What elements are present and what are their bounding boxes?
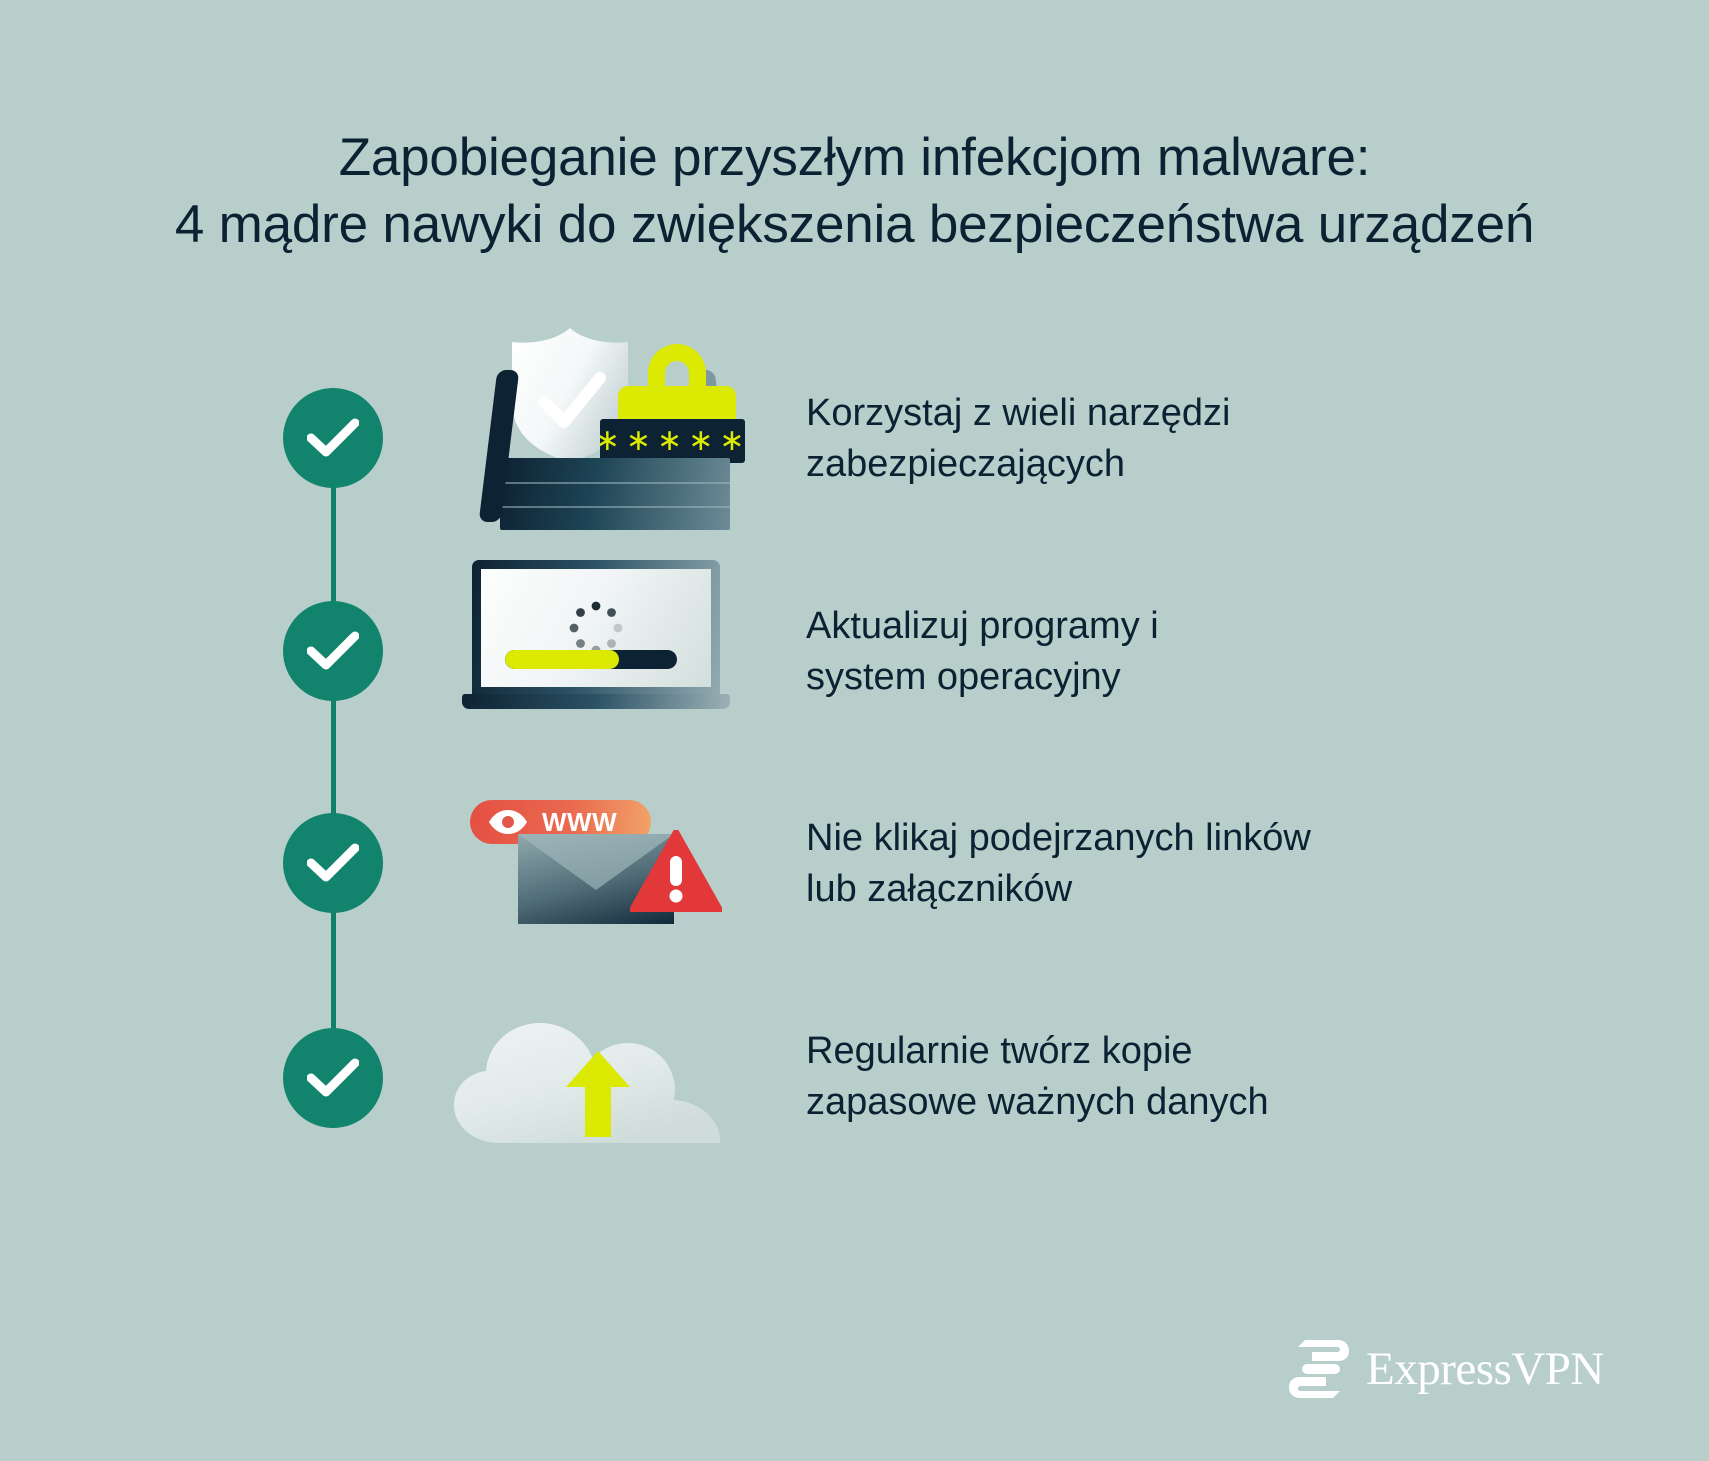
list-item-text-2: Aktualizuj programy i system operacyjny: [806, 601, 1506, 702]
email-suspicious-link-warning-icon: WWW: [470, 790, 738, 930]
item-4-line-2: zapasowe ważnych danych: [806, 1077, 1506, 1128]
list-item-text-1: Korzystaj z wieli narzędzi zabezpieczają…: [806, 388, 1506, 489]
update-progress-fill: [505, 650, 619, 669]
toolbox-body: [500, 458, 730, 530]
infographic-canvas: Zapobieganie przyszłym infekcjom malware…: [0, 0, 1709, 1461]
expressvpn-logo-mark-icon: [1288, 1338, 1350, 1400]
item-1-line-2: zabezpieczających: [806, 439, 1506, 490]
list-item-text-4: Regularnie twórz kopie zapasowe ważnych …: [806, 1026, 1506, 1127]
warning-triangle-icon: [630, 830, 722, 912]
url-label: WWW: [542, 809, 617, 835]
upload-arrow-icon: [566, 1051, 630, 1137]
eye-icon: [488, 809, 528, 835]
update-progress-bar: [505, 650, 677, 669]
checkmark-node-1: [283, 388, 383, 488]
laptop-update-progress-icon: [462, 560, 730, 728]
checkmark-node-4: [283, 1028, 383, 1128]
expressvpn-logo: ExpressVPN: [1288, 1338, 1604, 1400]
title-line-1: Zapobieganie przyszłym infekcjom malware…: [24, 124, 1685, 192]
page-title: Zapobieganie przyszłym infekcjom malware…: [0, 124, 1709, 260]
laptop-base: [462, 694, 730, 709]
check-icon: [307, 1058, 359, 1098]
item-3-line-1: Nie klikaj podejrzanych linków: [806, 813, 1506, 864]
check-icon: [307, 631, 359, 671]
loading-spinner-icon: [567, 599, 625, 657]
title-line-2: 4 mądre nawyki do zwiększenia bezpieczeń…: [24, 191, 1685, 259]
toolbox-shield-padlock-icon: ∗∗∗∗∗: [470, 322, 730, 522]
list-item-text-3: Nie klikaj podejrzanych linków lub załąc…: [806, 813, 1506, 914]
item-2-line-1: Aktualizuj programy i: [806, 601, 1506, 652]
timeline-rail: [331, 438, 336, 1078]
cloud-backup-upload-icon: [448, 995, 748, 1145]
password-field: ∗∗∗∗∗: [600, 419, 745, 463]
checklist-timeline: [283, 388, 383, 1120]
item-4-line-1: Regularnie twórz kopie: [806, 1026, 1506, 1077]
check-icon: [307, 418, 359, 458]
expressvpn-wordmark: ExpressVPN: [1366, 1346, 1604, 1393]
checkmark-node-3: [283, 813, 383, 913]
checkmark-node-2: [283, 601, 383, 701]
laptop-screen: [481, 569, 711, 687]
laptop-lid: [472, 560, 720, 696]
item-1-line-1: Korzystaj z wieli narzędzi: [806, 388, 1506, 439]
item-2-line-2: system operacyjny: [806, 652, 1506, 703]
item-3-line-2: lub załączników: [806, 864, 1506, 915]
check-icon: [307, 843, 359, 883]
